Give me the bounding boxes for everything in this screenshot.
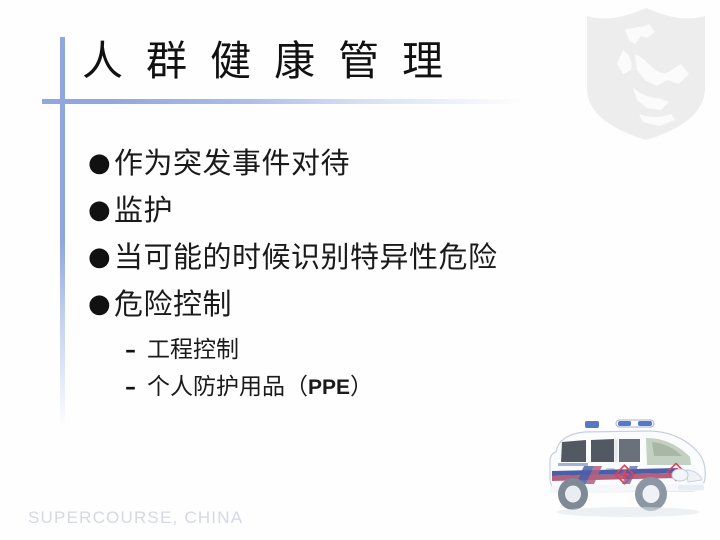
bullet-list: ● 作为突发事件对待 ● 监护 ● 当可能的时候识别特异性危险 ● 危险控制 –… xyxy=(88,143,648,408)
bullet-marker-icon: ● xyxy=(88,143,114,183)
accent-rule-horizontal xyxy=(42,99,662,104)
sub-bullet-text-suffix: ） xyxy=(350,374,373,400)
shield-map-watermark-icon xyxy=(583,2,709,142)
bullet-text: 当可能的时候识别特异性危险 xyxy=(114,237,648,277)
sub-list-item: – 个人防护用品（PPE） xyxy=(125,371,648,408)
ambulance-vehicle-image xyxy=(528,412,714,518)
dash-marker-icon: – xyxy=(125,334,147,366)
sub-bullet-text-prefix: 个人防护用品（ xyxy=(147,374,308,400)
sub-list-item: – 工程控制 xyxy=(125,334,648,371)
sub-bullet-text: 个人防护用品（PPE） xyxy=(147,371,648,404)
bullet-text: 危险控制 xyxy=(114,284,648,324)
footer-label: SUPERCOURSE, CHINA xyxy=(28,508,243,528)
dash-marker-icon: – xyxy=(125,371,147,403)
bullet-text: 监护 xyxy=(114,190,648,230)
bullet-marker-icon: ● xyxy=(88,284,114,324)
slide-canvas: 人 群 健 康 管 理 ● 作为突发事件对待 ● 监护 ● 当可能的时候识别特异… xyxy=(0,0,720,540)
list-item: ● 作为突发事件对待 xyxy=(88,143,648,190)
bullet-marker-icon: ● xyxy=(88,190,114,230)
sub-bullet-text-emphasis: PPE xyxy=(308,376,350,399)
page-title: 人 群 健 康 管 理 xyxy=(82,38,448,85)
sub-bullet-text: 工程控制 xyxy=(147,334,648,366)
bullet-marker-icon: ● xyxy=(88,237,114,277)
bullet-text: 作为突发事件对待 xyxy=(114,143,648,183)
list-item: ● 监护 xyxy=(88,190,648,237)
accent-rule-vertical xyxy=(60,37,65,427)
sub-bullet-list: – 工程控制 – 个人防护用品（PPE） xyxy=(125,334,648,408)
list-item: ● 危险控制 xyxy=(88,284,648,331)
list-item: ● 当可能的时候识别特异性危险 xyxy=(88,237,648,284)
